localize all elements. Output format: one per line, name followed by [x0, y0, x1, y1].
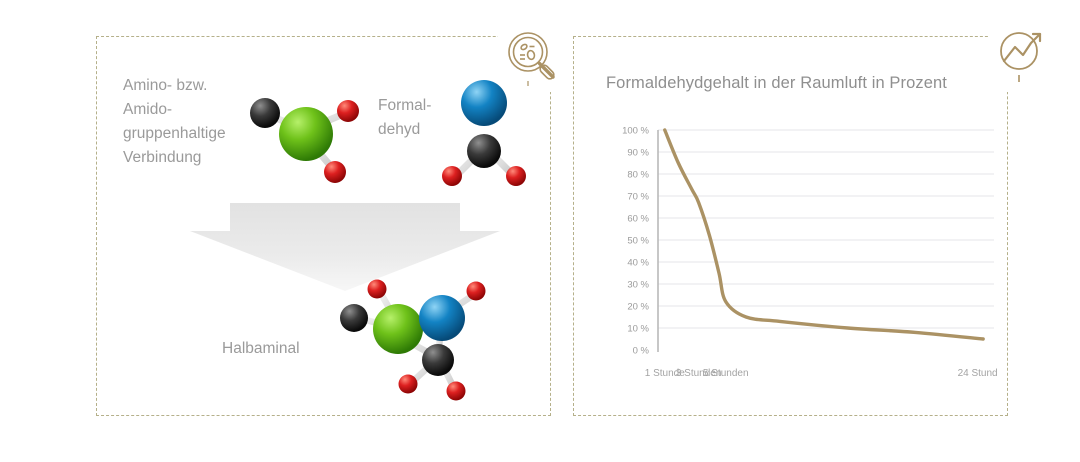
y-axis-tick: 60 %: [627, 213, 649, 224]
y-axis-tick: 20 %: [627, 301, 649, 312]
y-axis-tick: 40 %: [627, 257, 649, 268]
line-chart: 100 %90 %80 %70 %60 %50 %40 %30 %20 %10 …: [598, 118, 998, 388]
x-axis-tick: 24 Stunden: [958, 368, 998, 379]
molecule-formaldehyd: [434, 70, 534, 190]
y-axis-tick: 100 %: [622, 125, 649, 136]
chart-line-series: [665, 130, 983, 339]
x-axis-tick: 5 Stunden: [703, 368, 749, 379]
trend-line-icon: [988, 22, 1058, 92]
y-axis-tick: 70 %: [627, 191, 649, 202]
y-axis-tick: 30 %: [627, 279, 649, 290]
y-axis-tick: 90 %: [627, 147, 649, 158]
chart-title: Formaldehydgehalt in der Raumluft in Pro…: [606, 74, 947, 93]
molecule-halbaminal: [330, 272, 505, 402]
y-axis-tick: 80 %: [627, 169, 649, 180]
y-axis-tick: 10 %: [627, 323, 649, 334]
y-axis-tick: 50 %: [627, 235, 649, 246]
molecule-amino: [238, 82, 368, 192]
y-axis-tick: 0 %: [633, 345, 650, 356]
